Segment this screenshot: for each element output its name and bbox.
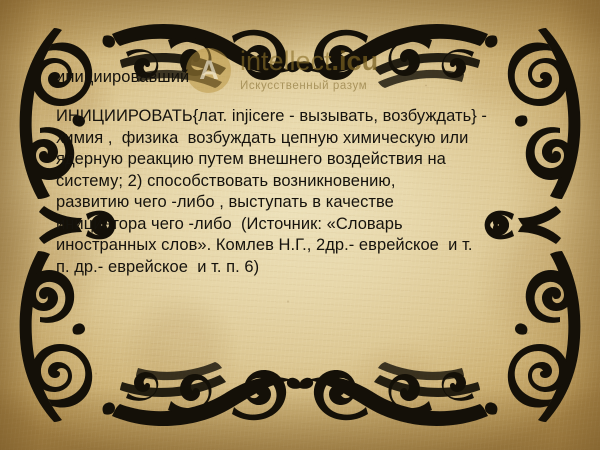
definition-line: ядерную реакцию путем внешнего воздейств… (56, 149, 556, 171)
definition-line: инициатора чего -либо (Источник: «Словар… (56, 214, 556, 236)
definition-line: иностранных слов». Комлев Н.Г., 2др.- ев… (56, 235, 556, 257)
definition-text: ИНИЦИИРОВАТЬ{лат. injicere - вызывать, в… (56, 106, 556, 278)
definition-line: п. др.- еврейское и т. п. 6) (56, 257, 556, 279)
definition-line: химия , физика возбуждать цепную химичес… (56, 128, 556, 150)
definition-line: развитию чего -либо , выступать в качест… (56, 192, 556, 214)
definition-line: систему; 2) способствовать возникновению… (56, 171, 556, 193)
definition-line: ИНИЦИИРОВАТЬ{лат. injicere - вызывать, в… (56, 106, 556, 128)
headword: инициировавший (56, 68, 189, 87)
parchment-dictionary-card: A intellect.icu Искусственный разум иниц… (0, 0, 600, 450)
